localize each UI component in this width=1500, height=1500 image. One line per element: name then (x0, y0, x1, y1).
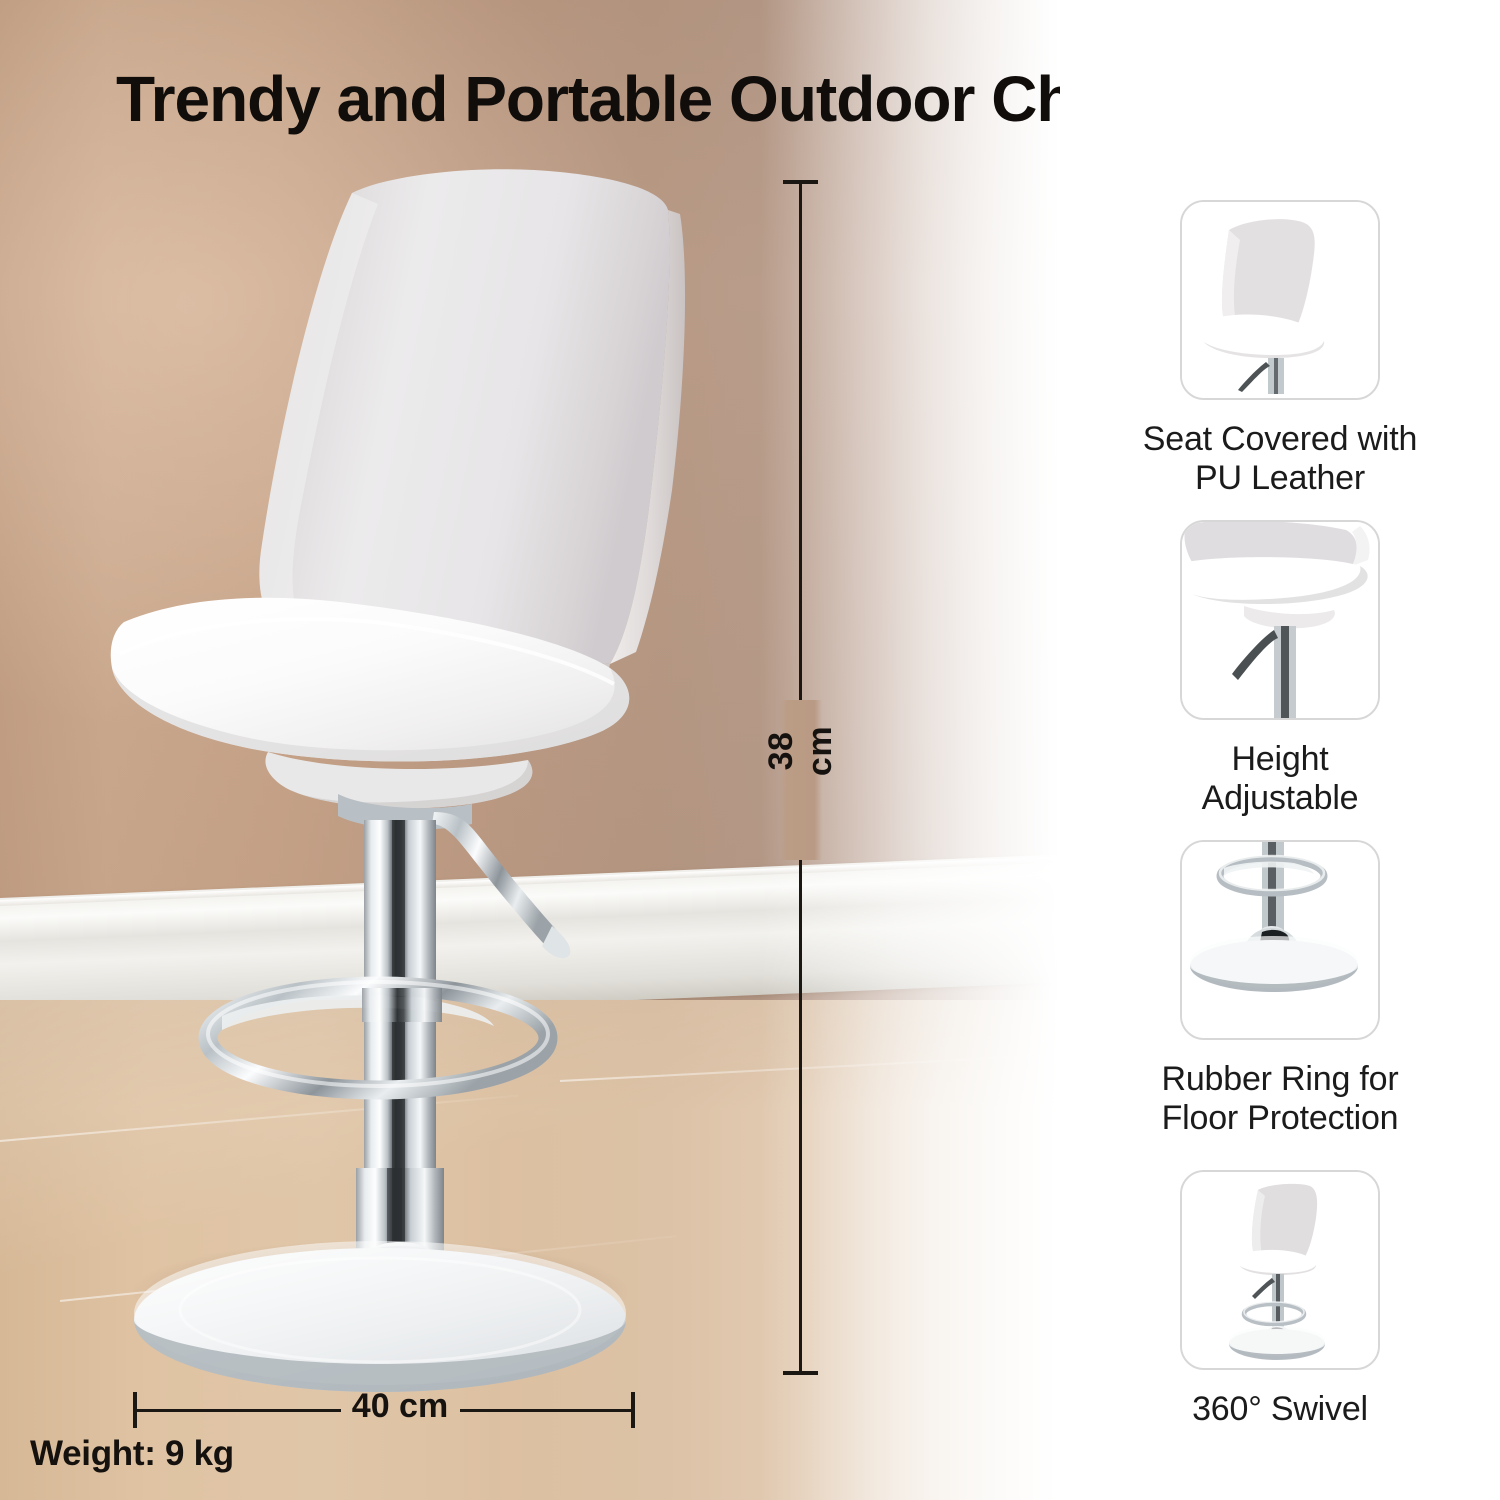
feature-label: Rubber Ring for Floor Protection (1060, 1060, 1500, 1139)
height-dimension-label: 38 cm (762, 707, 840, 795)
product-infographic: 38 cm 40 cm Trendy and Portable Outdoor … (0, 0, 1500, 1500)
width-dimension-cap-left (133, 1392, 137, 1428)
full-bar-stool-icon (1180, 1170, 1380, 1370)
feature-sidebar: Seat Covered with PU Leather Height Adju… (1060, 0, 1500, 1500)
height-dimension-cap-top (783, 180, 818, 184)
feature-label: 360° Swivel (1060, 1390, 1500, 1429)
bar-stool-chair (90, 160, 710, 1400)
chrome-base-disc-icon (1180, 840, 1380, 1040)
height-dimension-cap-bottom (783, 1371, 818, 1375)
width-dimension-label: 40 cm (330, 1387, 470, 1426)
width-dimension-line-left (133, 1409, 341, 1412)
room-scene: 38 cm 40 cm Trendy and Portable Outdoor … (0, 0, 1060, 1500)
feature-label: Height Adjustable (1060, 740, 1500, 819)
feature-item-swivel: 360° Swivel (1060, 1170, 1500, 1429)
page-title: Trendy and Portable Outdoor Chair (116, 67, 1060, 131)
feature-item-pu-leather: Seat Covered with PU Leather (1060, 200, 1500, 499)
feature-item-rubber-ring: Rubber Ring for Floor Protection (1060, 840, 1500, 1139)
width-dimension-line-right (460, 1409, 635, 1412)
weight-label: Weight: 9 kg (30, 1434, 234, 1474)
feature-label: Seat Covered with PU Leather (1060, 420, 1500, 499)
gas-lift-lever-icon (1180, 520, 1380, 720)
width-dimension-cap-right (631, 1392, 635, 1428)
feature-item-height-adjustable: Height Adjustable (1060, 520, 1500, 819)
chair-seat-closeup-icon (1180, 200, 1380, 400)
